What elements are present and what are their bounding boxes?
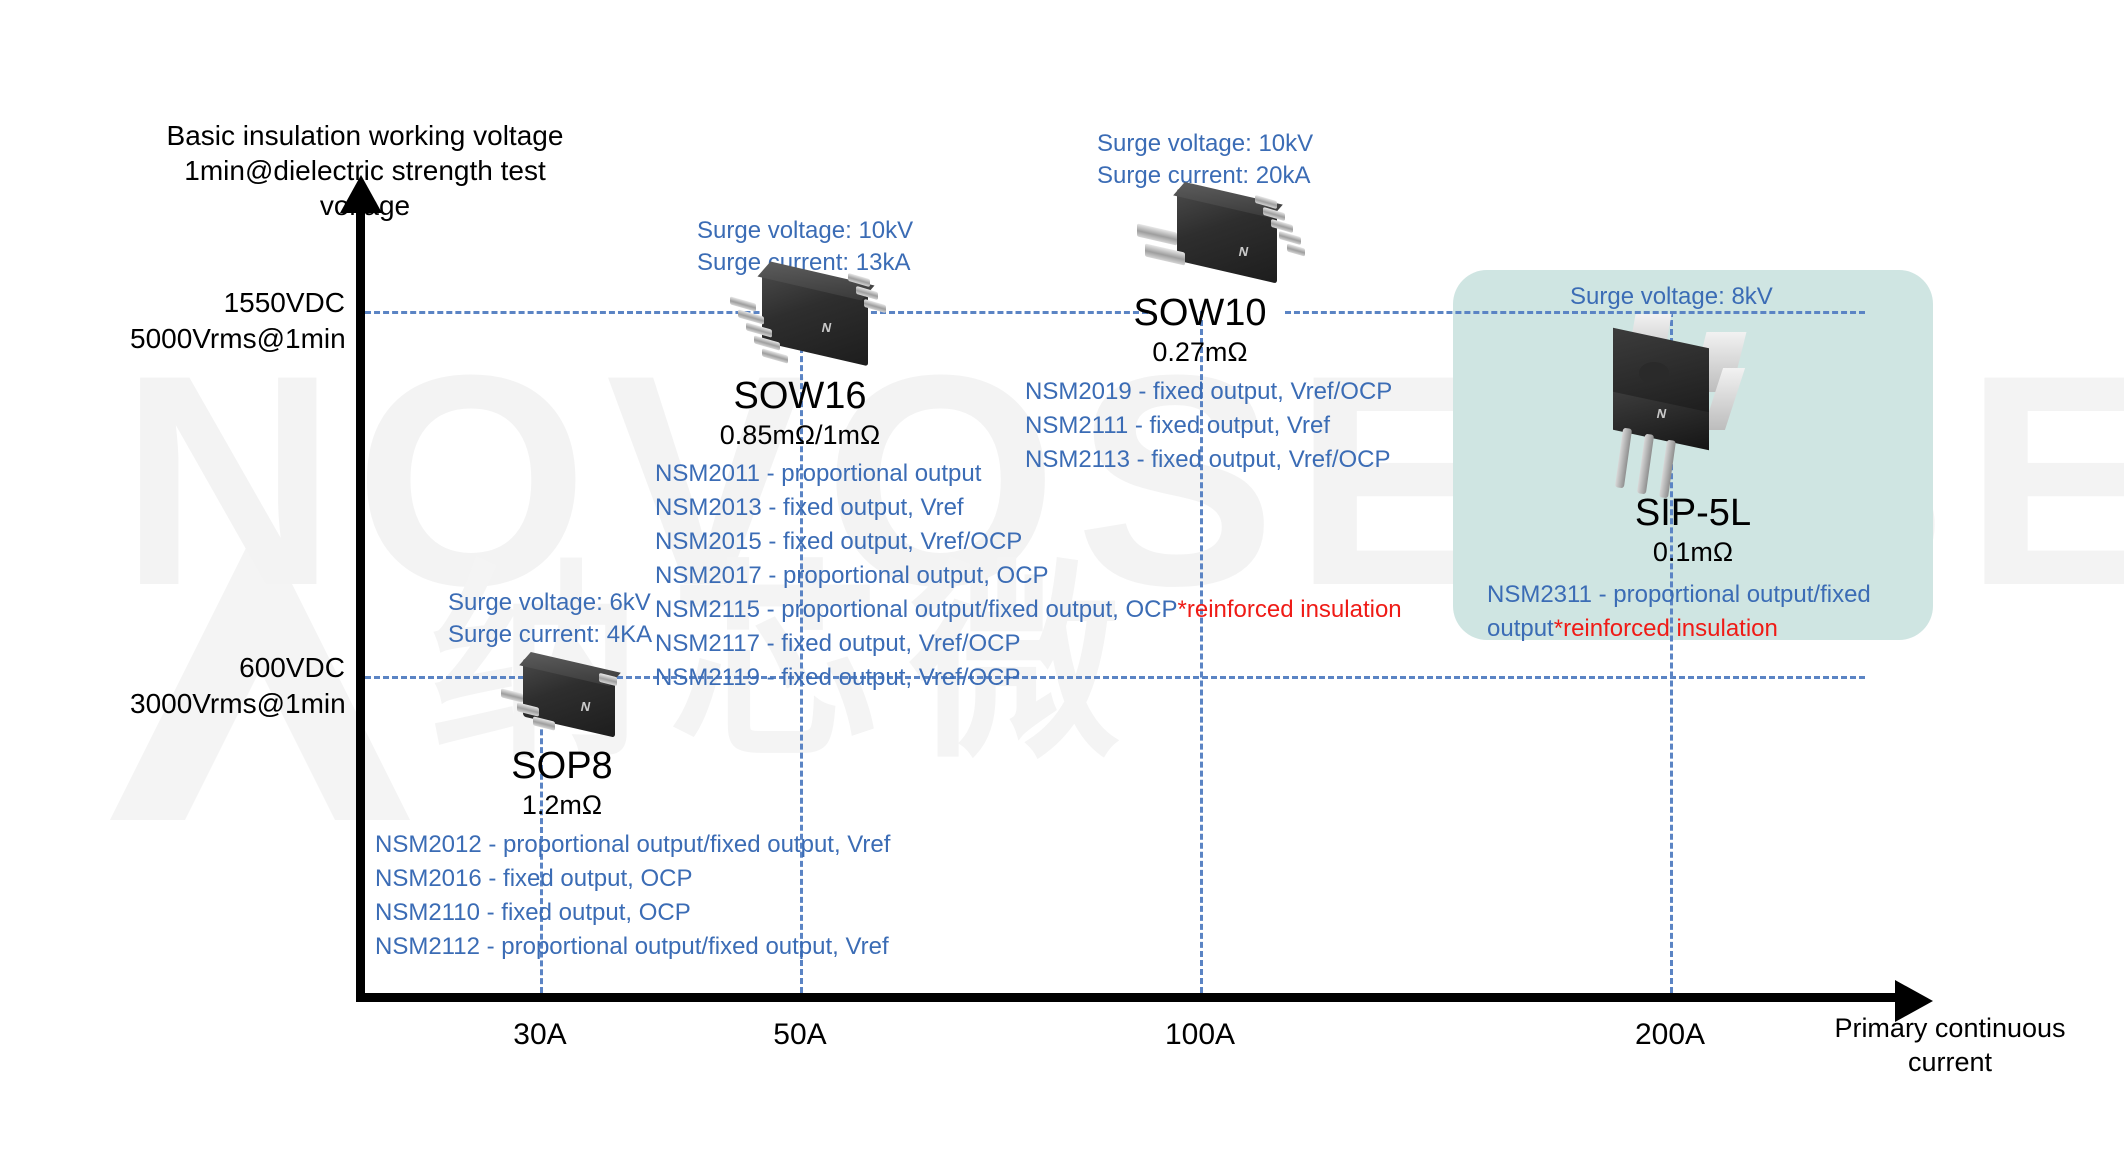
sow16-part-6: NSM2119 - fixed output, Vref/OCP (655, 664, 1021, 691)
sow10-part-list: NSM2019 - fixed output, Vref/OCP NSM2111… (1025, 375, 1392, 477)
x-axis-line (356, 993, 1906, 1002)
sop8-surge-current: Surge current: 4KA (448, 621, 652, 648)
y-level-2-line2: 3000Vrms@1min (130, 686, 345, 722)
sip5l-surge-info: Surge voltage: 8kV (1570, 281, 1773, 313)
sop8-surge-voltage: Surge voltage: 6kV (448, 589, 651, 616)
y-axis-caption: Basic insulation working voltage 1min@di… (150, 118, 580, 223)
sow10-package-image: N (1135, 192, 1305, 292)
sow16-resistance: 0.85mΩ/1mΩ (680, 420, 920, 451)
sow16-part-3: NSM2017 - proportional output, OCP (655, 562, 1049, 589)
list-item: NSM2016 - fixed output, OCP (375, 862, 890, 896)
sip5l-part-0: NSM2311 - proportional output/fixed (1487, 581, 1871, 608)
list-item: NSM2012 - proportional output/fixed outp… (375, 828, 890, 862)
sow16-package-name: SOW16 (680, 375, 920, 418)
y-axis-line (356, 200, 365, 1000)
sip5l-part-1-note: *reinforced insulation (1554, 615, 1778, 642)
sop8-part-3: NSM2112 - proportional output/fixed outp… (375, 933, 889, 960)
y-axis-caption-line2: 1min@dielectric strength test voltage (184, 155, 545, 221)
y-level-label-600vdc: 600VDC 3000Vrms@1min (130, 650, 345, 723)
list-item: NSM2113 - fixed output, Vref/OCP (1025, 443, 1392, 477)
sow10-surge-voltage: Surge voltage: 10kV (1097, 130, 1313, 157)
list-item: NSM2115 - proportional output/fixed outp… (655, 593, 1402, 627)
sop8-part-0: NSM2012 - proportional output/fixed outp… (375, 831, 890, 858)
sow16-part-4-note: *reinforced insulation (1178, 596, 1402, 623)
sow10-surge-info: Surge voltage: 10kV Surge current: 20kA (1097, 128, 1313, 193)
sip5l-package-name: SIP-5L (1573, 492, 1813, 535)
list-item: output*reinforced insulation (1487, 612, 1871, 646)
sow16-part-list: NSM2011 - proportional output NSM2013 - … (655, 457, 1402, 696)
list-item: NSM2111 - fixed output, Vref (1025, 409, 1392, 443)
list-item: NSM2311 - proportional output/fixed (1487, 578, 1871, 612)
list-item: NSM2110 - fixed output, OCP (375, 896, 890, 930)
sow16-part-5: NSM2117 - fixed output, Vref/OCP (655, 630, 1021, 657)
list-item: NSM2119 - fixed output, Vref/OCP (655, 661, 1402, 695)
diagram-canvas: NOVOSENSE 纳芯微 Basic insulation working v… (0, 0, 2124, 1169)
sow10-part-0: NSM2019 - fixed output, Vref/OCP (1025, 378, 1392, 405)
x-axis-title-line2: current (1908, 1047, 1992, 1077)
x-tick-100a: 100A (1120, 1018, 1280, 1052)
list-item: NSM2112 - proportional output/fixed outp… (375, 930, 890, 964)
sip5l-part-list: NSM2311 - proportional output/fixed outp… (1487, 578, 1871, 646)
sop8-part-list: NSM2012 - proportional output/fixed outp… (375, 828, 890, 964)
y-level-1-line2: 5000Vrms@1min (130, 321, 345, 357)
sow16-part-4: NSM2115 - proportional output/fixed outp… (655, 596, 1178, 623)
sip5l-part-1: output (1487, 615, 1554, 642)
list-item: NSM2015 - fixed output, Vref/OCP (655, 525, 1402, 559)
y-level-label-1550vdc: 1550VDC 5000Vrms@1min (130, 285, 345, 358)
x-axis-title-line1: Primary continuous (1834, 1013, 2065, 1043)
sow16-part-2: NSM2015 - fixed output, Vref/OCP (655, 528, 1022, 555)
list-item: NSM2017 - proportional output, OCP (655, 559, 1402, 593)
sip5l-surge-voltage: Surge voltage: 8kV (1570, 283, 1773, 310)
x-axis-title: Primary continuous current (1800, 1012, 2100, 1080)
sop8-resistance: 1.2mΩ (452, 790, 672, 821)
sow10-package-name: SOW10 (1080, 292, 1320, 335)
sow10-surge-current: Surge current: 20kA (1097, 162, 1310, 189)
x-tick-50a: 50A (720, 1018, 880, 1052)
y-level-2-line1: 600VDC (130, 650, 345, 686)
sop8-surge-info: Surge voltage: 6kV Surge current: 4KA (448, 587, 652, 652)
sop8-package-name: SOP8 (452, 745, 672, 788)
sop8-part-1: NSM2016 - fixed output, OCP (375, 865, 692, 892)
sop8-part-2: NSM2110 - fixed output, OCP (375, 899, 691, 926)
list-item: NSM2019 - fixed output, Vref/OCP (1025, 375, 1392, 409)
sip5l-resistance: 0.1mΩ (1573, 537, 1813, 568)
sow16-surge-voltage: Surge voltage: 10kV (697, 217, 913, 244)
sow10-resistance: 0.27mΩ (1080, 337, 1320, 368)
y-level-1-line1: 1550VDC (130, 285, 345, 321)
sow16-part-1: NSM2013 - fixed output, Vref (655, 494, 964, 521)
x-tick-30a: 30A (460, 1018, 620, 1052)
x-tick-200a: 200A (1590, 1018, 1750, 1052)
list-item: NSM2013 - fixed output, Vref (655, 491, 1402, 525)
sow10-part-2: NSM2113 - fixed output, Vref/OCP (1025, 446, 1391, 473)
sow10-part-1: NSM2111 - fixed output, Vref (1025, 412, 1330, 439)
list-item: NSM2117 - fixed output, Vref/OCP (655, 627, 1402, 661)
sop8-package-image: N (495, 655, 630, 745)
sow16-part-0: NSM2011 - proportional output (655, 460, 981, 487)
sow16-package-image: N (722, 268, 897, 373)
y-axis-caption-line1: Basic insulation working voltage (167, 120, 564, 151)
sip5l-package-image: N (1595, 310, 1785, 495)
